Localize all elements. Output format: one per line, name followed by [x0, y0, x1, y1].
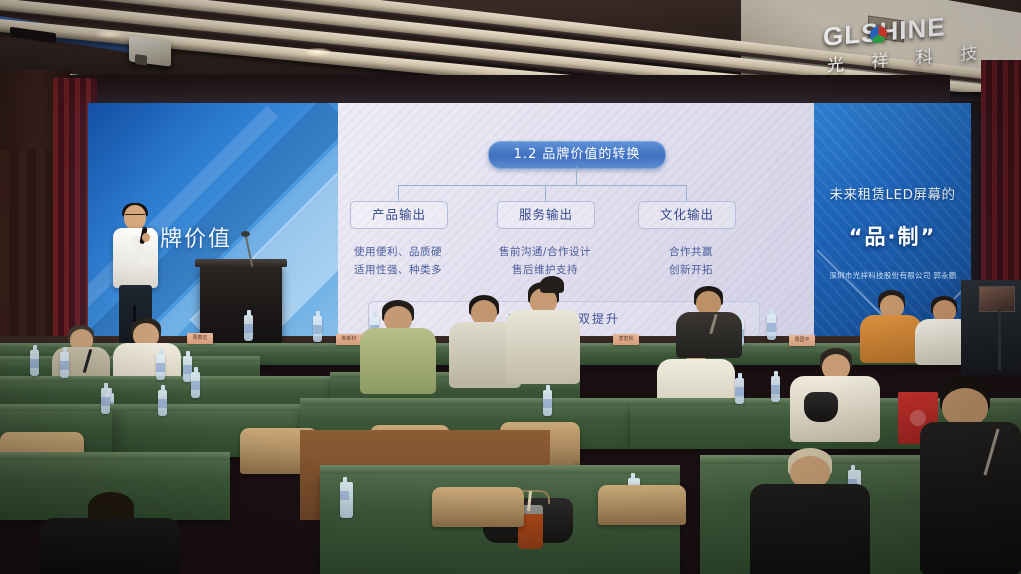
water-bottle [771, 376, 780, 402]
water-bottle [767, 314, 776, 340]
water-bottle [340, 482, 353, 518]
shoulder-bag [804, 392, 838, 422]
attendee [676, 286, 742, 352]
attendee-torso [40, 518, 180, 574]
cloth-fold [112, 411, 130, 457]
branch-detail-service: 售前沟通/合作设计 售后维护支持 [480, 243, 610, 279]
projector-icon [129, 35, 171, 66]
branch-detail-culture: 合作共赢 创新开拓 [626, 243, 756, 279]
wood-wall-panel [0, 150, 58, 360]
name-card: 李宏松 [613, 334, 639, 345]
attendee-torso [506, 310, 580, 384]
detail-line: 适用性强、种类多 [333, 261, 463, 279]
name-card: 周春志 [187, 333, 213, 344]
branch-detail-product: 使用便利、品质硬 适用性强、种类多 [333, 243, 463, 279]
connector-line [545, 185, 546, 201]
water-bottle [101, 388, 110, 414]
attendee [530, 276, 570, 316]
podium-top [195, 259, 287, 267]
right-panel-line2: “品·制” [822, 221, 963, 251]
attendee-torso [920, 422, 1021, 574]
water-bottle [60, 352, 69, 378]
water-bottle [313, 316, 322, 342]
microphone-icon [241, 231, 250, 237]
water-bottle [30, 350, 39, 376]
water-bottle [191, 372, 200, 398]
attendee-head [942, 388, 988, 426]
name-card: 周国平 [789, 335, 815, 346]
attendee [790, 348, 880, 440]
tripod-leg [998, 310, 1001, 370]
table-edge [320, 465, 680, 474]
name-card-text: 朱新村 [336, 334, 362, 345]
attendee-foreground [40, 492, 180, 574]
water-bottle [244, 315, 253, 341]
attendee-torso [360, 328, 436, 394]
table-edge [0, 452, 230, 460]
branch-box-culture: 文化输出 [638, 201, 736, 229]
detail-line: 合作共赢 [626, 243, 756, 261]
attendee-torso [676, 312, 742, 358]
connector-line [576, 167, 577, 185]
camera-monitor-icon [979, 286, 1015, 312]
connector-line [686, 185, 687, 201]
attendee [860, 290, 922, 356]
attendee-hair [540, 276, 564, 293]
chair [432, 487, 524, 527]
connector-line [398, 185, 399, 201]
connector-line [545, 185, 686, 186]
podium [200, 265, 282, 343]
name-card: 朱新村 [336, 334, 362, 345]
attendee [360, 300, 436, 396]
table-edge [300, 398, 630, 405]
water-bottle [543, 390, 552, 416]
conference-photo-scene: GLSHINE 光 祥 科 技 品牌价值 1.2 品牌价值的转换 产品输出 服务… [0, 0, 1021, 574]
water-bottle [158, 390, 167, 416]
chair [598, 485, 686, 525]
name-card-text: 李宏松 [613, 334, 639, 345]
branch-box-product: 产品输出 [350, 201, 448, 229]
slide-title: 1.2 品牌价值的转换 [488, 141, 666, 169]
glasses-icon [125, 214, 145, 219]
right-panel-line1: 未来租赁LED屏幕的 [822, 183, 963, 203]
detail-line: 售前沟通/合作设计 [480, 243, 610, 261]
name-card-text: 周春志 [187, 333, 213, 344]
table-edge [0, 404, 300, 411]
ceiling-light-icon [305, 48, 331, 56]
detail-line: 使用便利、品质硬 [333, 243, 463, 261]
detail-line: 创新开拓 [626, 261, 756, 279]
ceiling-light-icon [96, 30, 122, 38]
attendee-foreground [920, 378, 1021, 574]
name-card-text: 周国平 [789, 335, 815, 346]
speaker-hand [142, 233, 150, 242]
attendee-foreground [750, 448, 870, 574]
attendee-torso [750, 484, 870, 574]
water-bottle [735, 378, 744, 404]
branch-box-service: 服务输出 [497, 201, 595, 229]
right-panel-credit: 深圳市光祥科技股份有限公司 郭永鹏 [818, 270, 968, 281]
water-bottle [156, 354, 165, 380]
